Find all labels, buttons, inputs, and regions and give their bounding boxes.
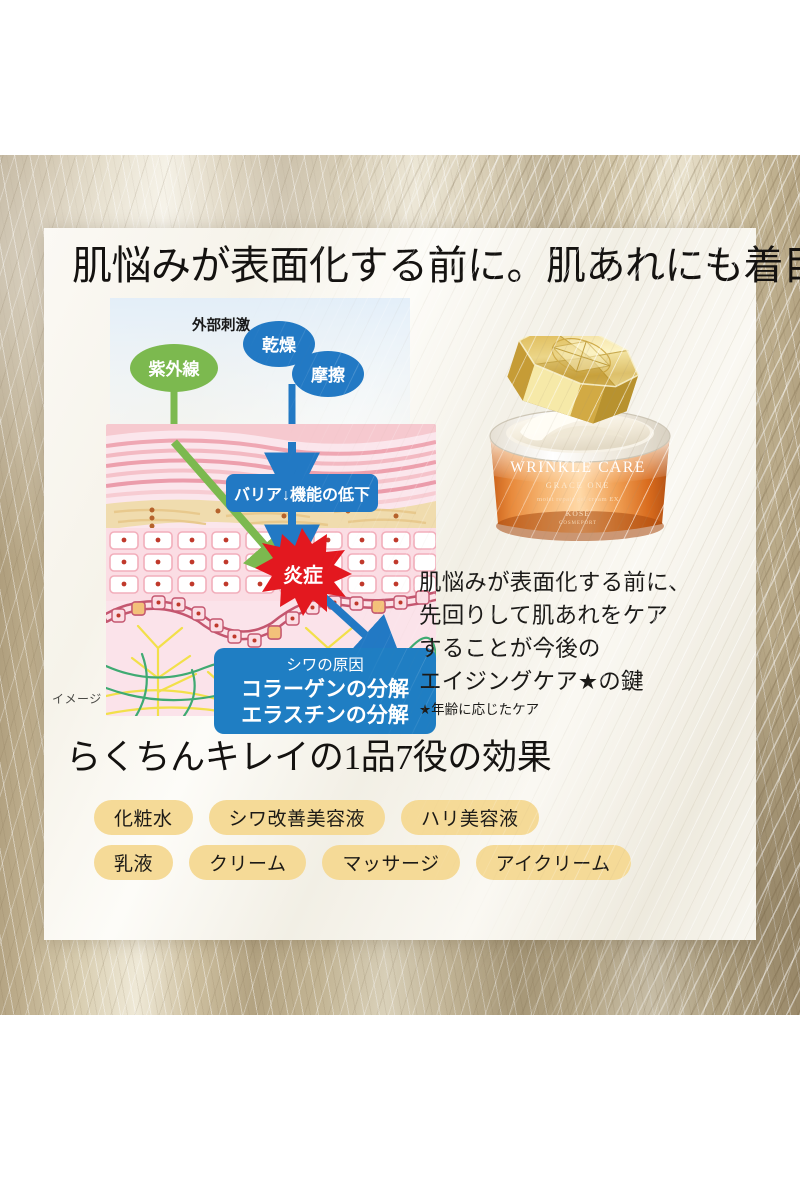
external-stimuli-label: 外部刺激 bbox=[191, 316, 250, 334]
product-brand-line2: GRACE ONE bbox=[546, 480, 611, 490]
svg-text:紫外線: 紫外線 bbox=[149, 359, 201, 379]
copy-line-2: 先回りして肌あれをケア bbox=[419, 603, 668, 628]
benefit-tag: アイクリーム bbox=[476, 845, 631, 880]
wrinkle-cause-box: シワの原因 コラーゲンの分解 エラスチンの分解 bbox=[214, 648, 436, 734]
benefit-tag-list: 化粧水 シワ改善美容液 ハリ美容液 乳液 クリーム マッサージ アイクリーム bbox=[94, 800, 734, 890]
benefit-tag: クリーム bbox=[189, 845, 306, 880]
benefit-tag: シワ改善美容液 bbox=[209, 800, 386, 835]
copy-line-1: 肌悩みが表面化する前に、 bbox=[419, 570, 691, 595]
product-brand-line1: WRINKLE CARE bbox=[510, 459, 646, 476]
barrier-decline-box: バリア↓機能の低下 bbox=[226, 474, 378, 512]
benefit-tag: 化粧水 bbox=[94, 800, 193, 835]
benefits-title: らくちんキレイの1品7役の効果 bbox=[66, 740, 726, 775]
page-title: 肌悩みが表面化する前に。肌あれにも着目 bbox=[72, 246, 732, 286]
benefit-tag-row-2: 乳液 クリーム マッサージ アイクリーム bbox=[94, 845, 734, 880]
benefit-tag: 乳液 bbox=[94, 845, 173, 880]
body-copy: 肌悩みが表面化する前に、 先回りして肌あれをケア することが今後の エイジングケ… bbox=[419, 566, 739, 719]
stimulus-bubble-friction: 摩擦 bbox=[292, 351, 364, 397]
benefit-tag: マッサージ bbox=[322, 845, 459, 880]
benefit-tag: ハリ美容液 bbox=[401, 800, 539, 835]
svg-text:エラスチンの分解: エラスチンの分解 bbox=[241, 703, 409, 727]
benefit-tag-row-1: 化粧水 シワ改善美容液 ハリ美容液 bbox=[94, 800, 734, 835]
svg-text:乾燥: 乾燥 bbox=[262, 335, 297, 355]
copy-line-3: することが今後の bbox=[419, 636, 601, 661]
product-brand-line3: moist repair gel cream EX bbox=[537, 496, 619, 503]
product-jar-image: WRINKLE CARE GRACE ONE moist repair gel … bbox=[464, 336, 714, 556]
svg-text:炎症: 炎症 bbox=[283, 563, 323, 587]
svg-text:シワの原因: シワの原因 bbox=[286, 657, 364, 674]
product-brand-line4: KOSÉ bbox=[566, 508, 590, 518]
stimulus-bubble-uv: 紫外線 bbox=[130, 344, 218, 392]
copy-line-4: エイジングケア★の鍵 bbox=[419, 669, 644, 694]
diagram-caption: イメージ bbox=[52, 690, 102, 707]
advertisement-page: 肌悩みが表面化する前に。肌あれにも着目 bbox=[0, 0, 800, 1200]
skin-cross-section-diagram: 外部刺激 紫外線 乾燥 摩擦 bbox=[96, 296, 446, 716]
svg-text:摩擦: 摩擦 bbox=[311, 365, 346, 385]
content-card: 肌悩みが表面化する前に。肌あれにも着目 bbox=[44, 228, 756, 940]
svg-text:コラーゲンの分解: コラーゲンの分解 bbox=[241, 677, 409, 701]
copy-footnote: ★年齢に応じたケア bbox=[419, 701, 739, 719]
product-brand-line5: COSMEPORT bbox=[559, 521, 597, 526]
svg-text:バリア↓機能の低下: バリア↓機能の低下 bbox=[234, 485, 370, 504]
